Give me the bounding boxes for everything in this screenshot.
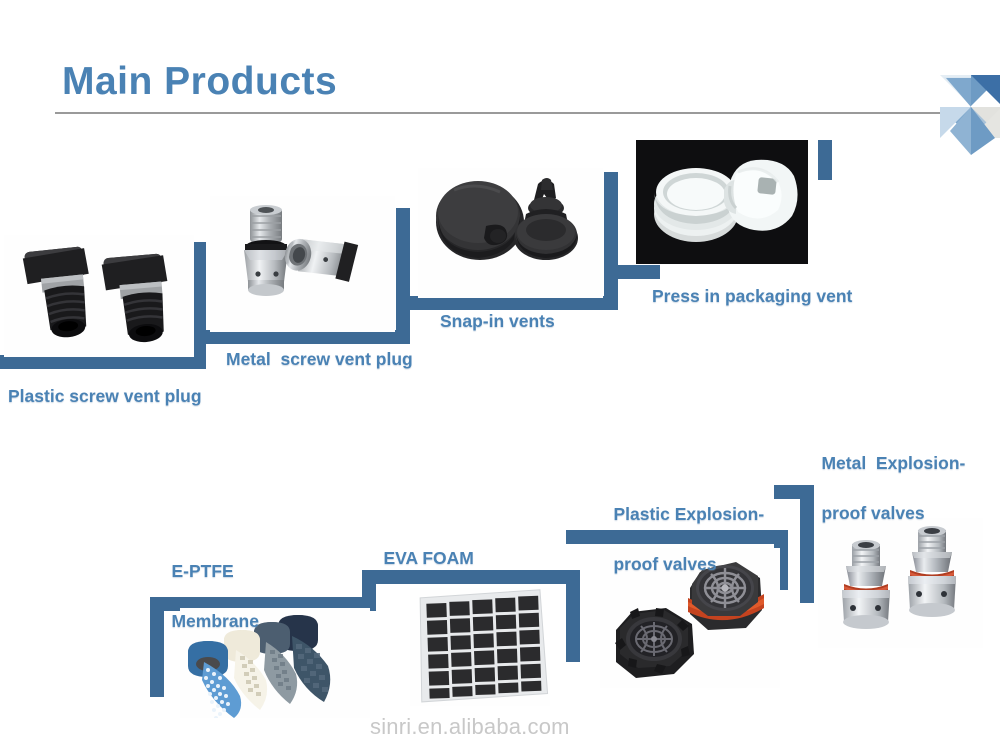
label-metal-screw-vent-plug: Metal screw vent plug: [226, 347, 413, 372]
label-plastic-screw-vent-plug: Plastic screw vent plug: [8, 384, 202, 409]
label-plastic-explosion-proof-valves-line1: Plastic Explosion-: [613, 504, 764, 524]
stair-bar-top-2-tread: [396, 296, 618, 310]
label-snap-in-vents: Snap-in vents: [440, 309, 555, 334]
stair-bar-bottom-1b-riser: [566, 570, 580, 662]
label-metal-explosion-proof-valves: Metal Explosion- proof valves: [802, 426, 965, 551]
label-plastic-explosion-proof-valves-line2: proof valves: [613, 554, 716, 574]
product-photo-metal-screw-vent-plug: [210, 196, 395, 332]
title-divider: [55, 112, 1000, 114]
label-eptfe-membrane: E-PTFE Membrane: [152, 534, 259, 659]
slide-canvas: Main Products: [0, 0, 1000, 750]
stair-bar-top-2-riser: [604, 172, 618, 310]
label-press-in-packaging-vent: Press in packaging vent: [652, 284, 852, 309]
label-eva-foam-line1: EVA FOAM: [383, 548, 473, 568]
stair-bar-top-3-riser: [818, 140, 832, 180]
page-title: Main Products: [62, 60, 337, 104]
stair-bar-top-0-riser: [192, 242, 206, 369]
label-metal-explosion-proof-valves-line1: Metal Explosion-: [821, 453, 965, 473]
stair-bar-top-3-tread: [604, 265, 660, 279]
label-eptfe-membrane-line1: E-PTFE: [171, 561, 233, 581]
product-photo-press-in-packaging-vent: [636, 140, 808, 264]
label-plastic-explosion-proof-valves: Plastic Explosion- proof valves: [594, 477, 764, 602]
pinwheel-triangles-logo-icon: [940, 55, 1000, 160]
label-metal-explosion-proof-valves-line2: proof valves: [821, 503, 924, 523]
product-photo-plastic-screw-vent-plug: [4, 235, 194, 357]
label-eva-foam: EVA FOAM: [364, 521, 474, 596]
stair-bar-top-1-tread: [192, 330, 410, 344]
site-watermark: sinri.en.alibaba.com: [370, 714, 570, 740]
stair-bar-top-1-riser: [396, 208, 410, 344]
product-photo-snap-in-vents: [418, 168, 603, 298]
product-photo-eva-foam: [410, 588, 550, 706]
stair-bar-top-0-tread: [0, 355, 205, 369]
label-eptfe-membrane-line2: Membrane: [171, 611, 259, 631]
